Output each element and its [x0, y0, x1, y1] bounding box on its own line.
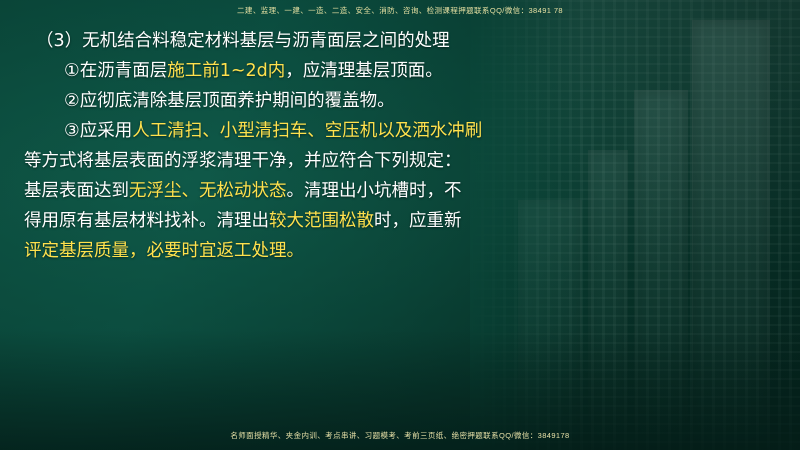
- text-segment: ①在沥青面层: [64, 61, 167, 81]
- content-line-1: （3）无机结合料稳定材料基层与沥青面层之间的处理: [24, 26, 776, 56]
- content-line-4: ③应采用人工清扫、小型清扫车、空压机以及洒水冲刷: [24, 116, 776, 146]
- text-segment: 得用原有基层材料找补。清理出: [24, 211, 269, 231]
- bottom-credit-line: 名师面授精华、夹金内训、考点串讲、习题模考、考前三页纸、绝密押题联系QQ/微信：…: [0, 430, 800, 441]
- text-segment: 基层表面达到: [24, 181, 129, 201]
- content-line-8: 评定基层质量，必要时宜返工处理。: [24, 236, 776, 266]
- text-segment: （3）无机结合料稳定材料基层与沥青面层之间的处理: [36, 31, 450, 51]
- text-segment-highlight: 评定基层质量，必要时宜返工处理。: [24, 241, 304, 261]
- content-line-5: 等方式将基层表面的浮浆清理干净，并应符合下列规定：: [24, 146, 776, 176]
- text-segment: ②应彻底清除基层顶面养护期间的覆盖物。: [64, 91, 395, 111]
- content-line-7: 得用原有基层材料找补。清理出较大范围松散时，应重新: [24, 206, 776, 236]
- content-line-3: ②应彻底清除基层顶面养护期间的覆盖物。: [24, 86, 776, 116]
- text-segment: 等方式将基层表面的浮浆清理干净，并应符合下列规定：: [24, 151, 462, 171]
- text-segment-highlight: 施工前1~2d内: [167, 61, 285, 81]
- text-segment-highlight: 较大范围松散: [269, 211, 374, 231]
- slide-content: （3）无机结合料稳定材料基层与沥青面层之间的处理 ①在沥青面层施工前1~2d内，…: [0, 26, 800, 266]
- text-segment: ③应采用: [64, 121, 132, 141]
- text-segment: ，应清理基层顶面。: [285, 61, 443, 81]
- text-segment-highlight: 无浮尘、无松动状态: [129, 181, 287, 201]
- top-credit-line: 二建、监理、一建、一造、二造、安全、消防、咨询、检测课程押题联系QQ/微信：38…: [0, 5, 800, 16]
- text-segment-highlight: 人工清扫、小型清扫车、空压机以及洒水冲刷: [132, 121, 482, 141]
- text-segment: 。清理出小坑槽时，不: [287, 181, 462, 201]
- content-line-6: 基层表面达到无浮尘、无松动状态。清理出小坑槽时，不: [24, 176, 776, 206]
- text-segment: 时，应重新: [374, 211, 462, 231]
- slide-canvas: 二建、监理、一建、一造、二造、安全、消防、咨询、检测课程押题联系QQ/微信：38…: [0, 0, 800, 450]
- content-line-2: ①在沥青面层施工前1~2d内，应清理基层顶面。: [24, 56, 776, 86]
